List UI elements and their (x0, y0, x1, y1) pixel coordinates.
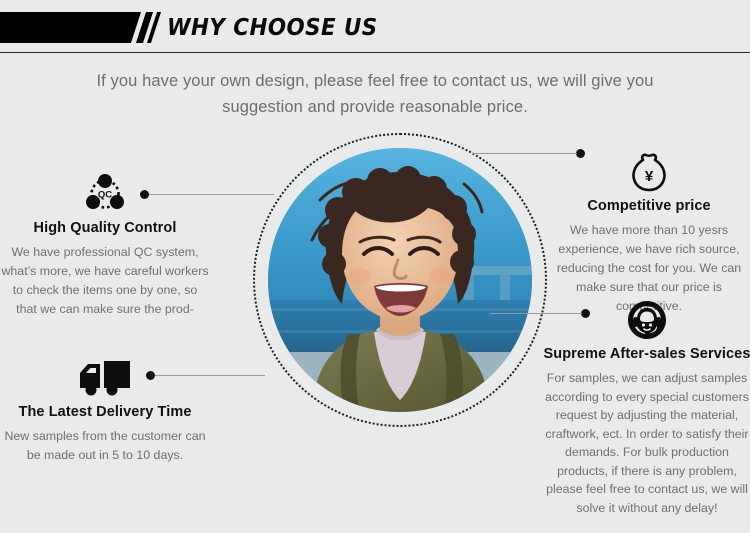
headset-icon (543, 298, 750, 342)
svg-text:¥: ¥ (645, 168, 654, 185)
header-divider (0, 52, 750, 53)
page-header: WHY CHOOSE US (0, 0, 750, 53)
feature-body: New samples from the customer can be mad… (1, 427, 209, 465)
page-title: WHY CHOOSE US (167, 13, 378, 43)
feature-competitive-price: ¥ Competitive price We have more than 10… (545, 150, 750, 316)
feature-body: For samples, we can adjust samples accor… (543, 369, 750, 517)
qc-icon: QC (1, 172, 209, 216)
feature-supreme-after-sales-services: Supreme After-sales Services For samples… (543, 298, 750, 517)
feature-high-quality-control: QC High Quality Control We have professi… (1, 172, 209, 319)
hero-photo-illustration (268, 148, 532, 412)
feature-title: High Quality Control (1, 220, 209, 236)
header-black-bar (0, 12, 141, 43)
feature-latest-delivery-time: The Latest Delivery Time New samples fro… (1, 356, 209, 465)
feature-body: We have professional QC system, what’s m… (1, 243, 209, 319)
truck-icon (1, 356, 209, 400)
money-bag-icon: ¥ (545, 150, 750, 194)
feature-title: Competitive price (545, 198, 750, 214)
feature-title: The Latest Delivery Time (1, 404, 209, 420)
feature-title: Supreme After-sales Services (543, 346, 750, 362)
intro-text: If you have your own design, please feel… (75, 68, 675, 120)
svg-text:QC: QC (98, 190, 112, 201)
hero-photo (268, 148, 532, 412)
